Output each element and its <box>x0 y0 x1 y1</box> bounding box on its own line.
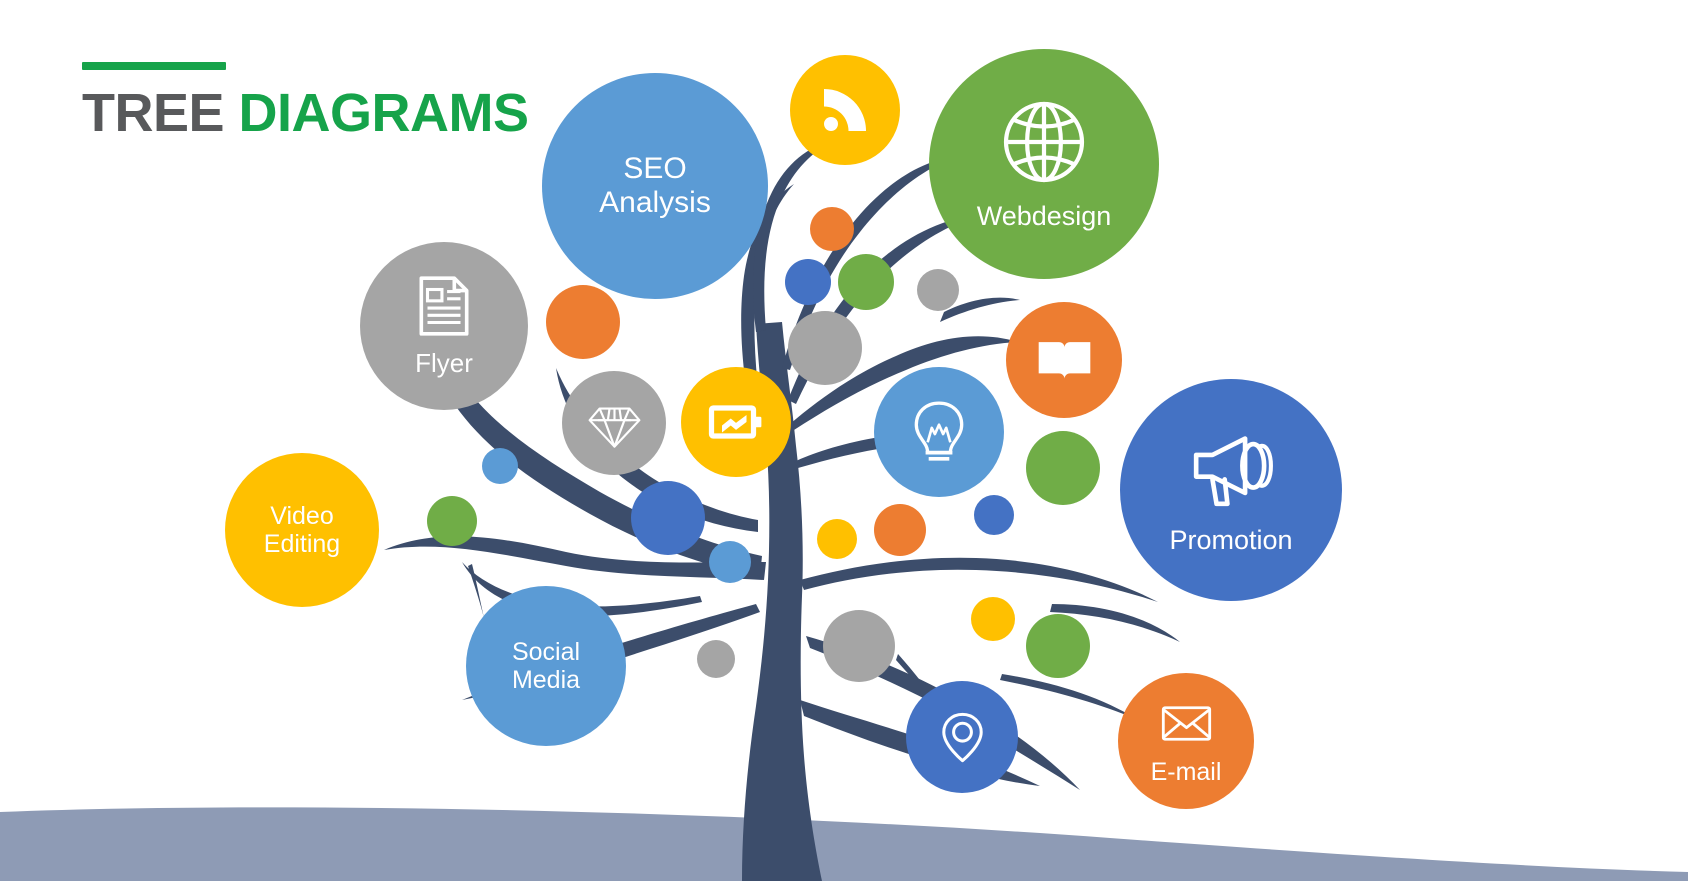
dot-green-left <box>427 496 477 546</box>
page-title-part1: TREE <box>82 83 239 143</box>
rss-icon <box>817 82 873 138</box>
dot-lblue-mid <box>709 541 751 583</box>
dot-lblue-small-left <box>482 448 518 484</box>
branch-to-promotion <box>800 558 1158 602</box>
dot-gray-large-low <box>823 610 895 682</box>
node-flyer[interactable]: Flyer <box>360 242 528 410</box>
book-icon <box>1035 331 1094 390</box>
dot-gray-small-low <box>697 640 735 678</box>
lightbulb-icon <box>906 399 972 465</box>
node-book[interactable] <box>1006 302 1122 418</box>
dot-green-upper-mid <box>838 254 894 310</box>
dot-green-low <box>1026 614 1090 678</box>
node-social-media[interactable]: Social Media <box>466 586 626 746</box>
node-ideas-lightbulb[interactable] <box>874 367 1004 497</box>
node-label: Social Media <box>512 638 580 694</box>
node-webdesign[interactable]: Webdesign <box>929 49 1159 279</box>
envelope-icon <box>1160 697 1213 750</box>
diamond-icon <box>588 397 641 450</box>
node-seo-analysis[interactable]: SEO Analysis <box>542 73 768 299</box>
dot-dblue-right <box>974 495 1014 535</box>
title-accent-rule <box>82 62 226 70</box>
dot-gray-center <box>788 311 862 385</box>
ground-wave <box>0 807 1688 881</box>
dot-green-right <box>1026 431 1100 505</box>
dot-orange-left <box>546 285 620 359</box>
node-label: Video Editing <box>264 502 340 558</box>
document-icon <box>411 273 477 339</box>
branch-right-curl <box>1000 674 1138 720</box>
dot-dblue-mid <box>631 481 705 555</box>
dot-gray-upper-right <box>917 269 959 311</box>
node-rss-feed[interactable] <box>790 55 900 165</box>
battery-icon <box>708 394 764 450</box>
node-battery-power[interactable] <box>681 367 791 477</box>
page-title: TREE DIAGRAMS <box>82 86 529 140</box>
map-pin-icon <box>934 709 991 766</box>
globe-icon <box>999 97 1089 187</box>
node-promotion[interactable]: Promotion <box>1120 379 1342 601</box>
branch-left-hook <box>468 564 484 618</box>
node-label: Webdesign <box>977 201 1112 231</box>
node-label: Flyer <box>415 349 473 378</box>
slide-canvas: TREE DIAGRAMS <box>0 0 1688 881</box>
page-title-block: TREE DIAGRAMS <box>82 62 529 140</box>
node-label: E-mail <box>1151 758 1222 786</box>
dot-yellow-right <box>817 519 857 559</box>
node-label: Promotion <box>1169 525 1292 555</box>
dot-yellow-low <box>971 597 1015 641</box>
dot-orange-right <box>874 504 926 556</box>
megaphone-icon <box>1188 425 1275 512</box>
node-location[interactable] <box>906 681 1018 793</box>
dot-orange-upper-mid <box>810 207 854 251</box>
node-email[interactable]: E-mail <box>1118 673 1254 809</box>
node-label: SEO Analysis <box>599 152 711 219</box>
node-video-editing[interactable]: Video Editing <box>225 453 379 607</box>
dot-blue-upper-mid <box>785 259 831 305</box>
page-title-part2: DIAGRAMS <box>239 83 529 143</box>
node-quality-diamond[interactable] <box>562 371 666 475</box>
